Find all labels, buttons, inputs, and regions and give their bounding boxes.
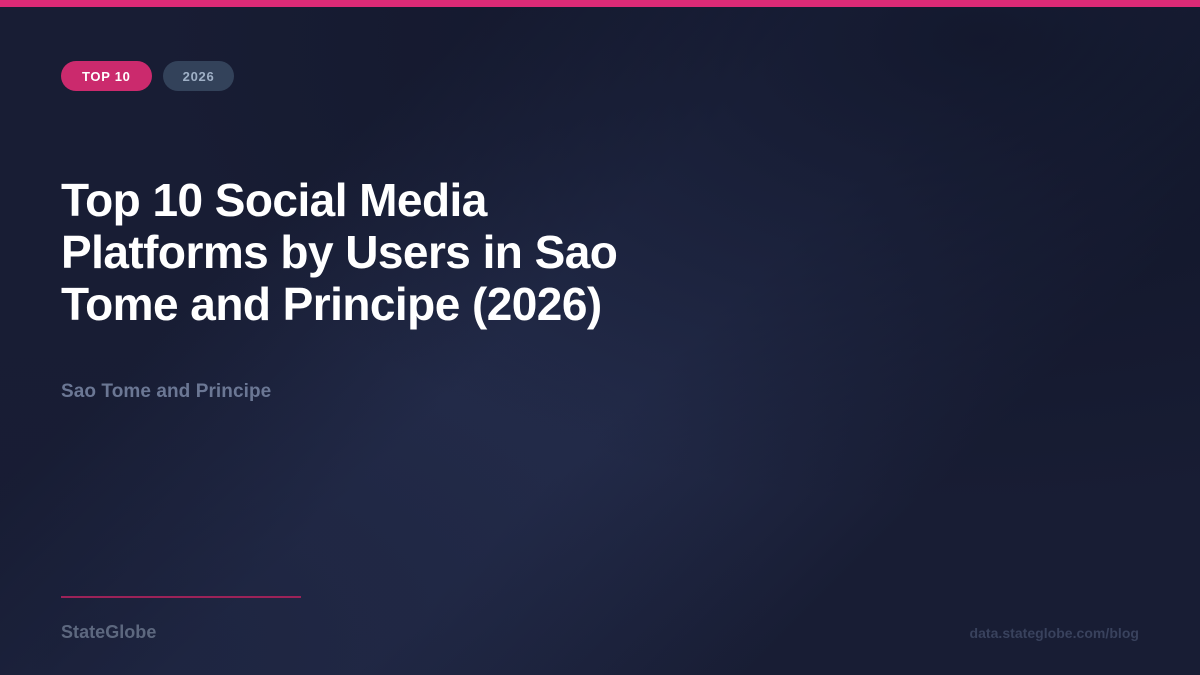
year-badge: 2026 [163,61,235,91]
footer-divider [61,596,301,598]
badge-row: TOP 10 2026 [61,61,234,91]
page-title: Top 10 Social Media Platforms by Users i… [61,174,681,330]
background-sheen [0,0,1200,675]
source-url: data.stateglobe.com/blog [970,625,1139,641]
title-slide: TOP 10 2026 Top 10 Social Media Platform… [0,0,1200,675]
top-accent-bar [0,0,1200,7]
background-vignette [0,0,1200,675]
rank-badge: TOP 10 [61,61,152,91]
brand-name: StateGlobe [61,622,156,643]
subtitle-region: Sao Tome and Principe [61,381,271,403]
